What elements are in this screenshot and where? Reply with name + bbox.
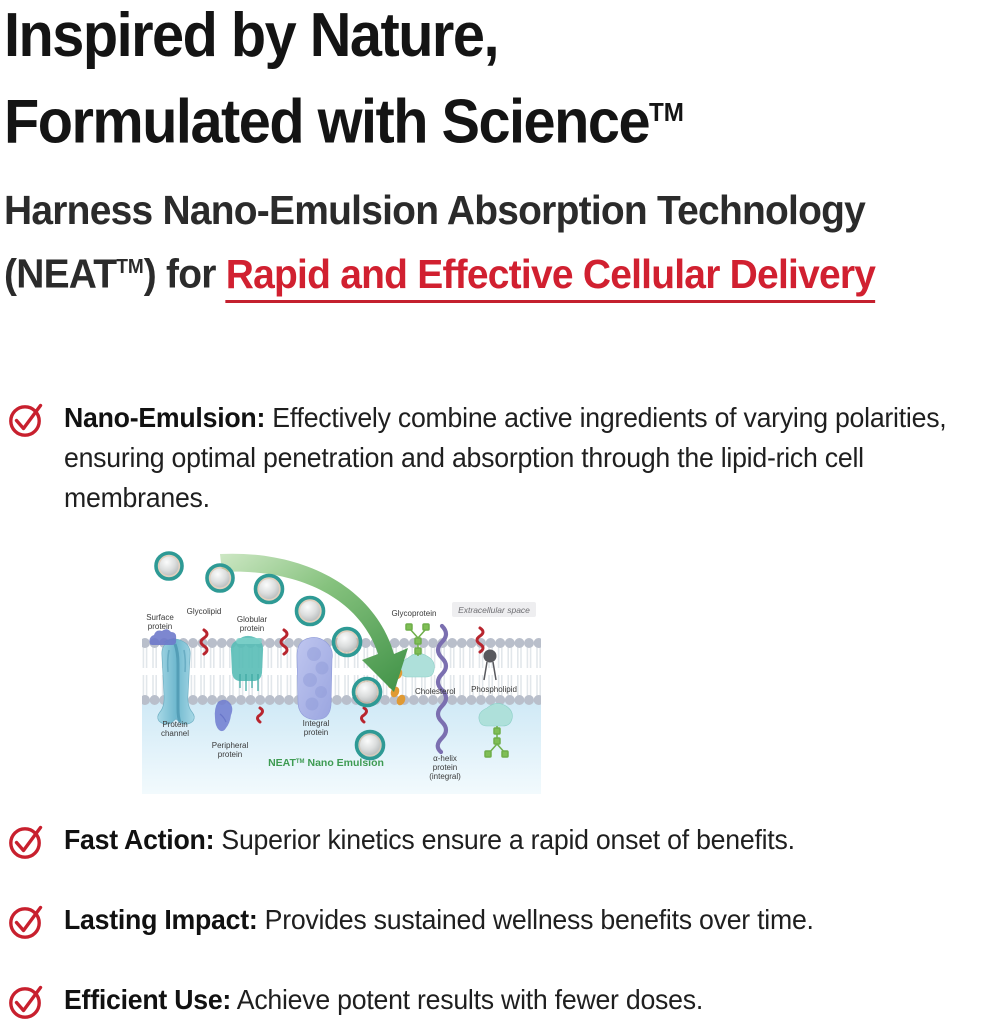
headline-line-2: Formulated with Science	[4, 88, 649, 157]
label-alpha-helix-line3: (integral)	[429, 772, 461, 781]
list-item: Nano-Emulsion: Effectively combine activ…	[6, 398, 984, 518]
lipid-head	[428, 695, 438, 705]
subtitle: Harness Nano-Emulsion Absorption Technol…	[4, 182, 930, 303]
lipid-head	[332, 695, 342, 705]
lipid-head	[534, 638, 541, 648]
lipid-head	[370, 695, 380, 705]
lipid-head	[505, 695, 515, 705]
lipid-head	[476, 695, 486, 705]
lipid-head	[457, 695, 467, 705]
nano-emulsion-particle	[155, 552, 183, 580]
label-glycolipid: Glycolipid	[187, 607, 222, 616]
list-item-label: Lasting Impact:	[64, 904, 257, 935]
check-circle-icon	[6, 822, 46, 862]
list-item-text: Lasting Impact: Provides sustained welln…	[64, 900, 814, 940]
lipid-head	[351, 638, 361, 648]
label-phospholipid: Phospholipid	[471, 685, 517, 694]
lipid-head	[284, 695, 294, 705]
phospholipid-highlight-shape	[484, 650, 497, 681]
lipid-head	[188, 695, 198, 705]
list-item-text: Efficient Use: Achieve potent results wi…	[64, 980, 703, 1020]
check-circle-icon	[6, 400, 46, 440]
label-protein-channel-line1: Protein	[162, 720, 187, 729]
lipid-head	[486, 695, 496, 705]
lipid-head	[207, 638, 217, 648]
lipid-head	[265, 695, 275, 705]
list-item-body: Provides sustained wellness benefits ove…	[257, 904, 813, 935]
lipid-head	[495, 638, 505, 648]
lipid-head	[342, 638, 352, 648]
cell-membrane-diagram: Extracellular space Surface protein Glyc…	[142, 596, 541, 794]
lipid-head	[142, 638, 150, 648]
lipid-head	[198, 695, 208, 705]
subtitle-part-2: ) for	[144, 251, 226, 297]
lipid-head	[361, 695, 371, 705]
lipid-head	[150, 695, 160, 705]
label-integral-protein-line2: protein	[304, 728, 328, 737]
lipid-head	[351, 695, 361, 705]
headline-line-1: Inspired by Nature,	[4, 1, 498, 70]
lipid-head	[255, 695, 265, 705]
lipid-head	[265, 638, 275, 648]
list-item-body: Achieve potent results with fewer doses.	[231, 984, 703, 1015]
integral-protein-shape	[297, 637, 332, 719]
label-glycoprotein: Glycoprotein	[392, 609, 437, 618]
label-protein-channel-line2: channel	[161, 729, 189, 738]
cell-membrane-diagram-svg: Extracellular space Surface protein Glyc…	[142, 596, 541, 794]
lipid-head	[486, 638, 496, 648]
label-alpha-helix-line2: protein	[433, 763, 457, 772]
label-globular-protein-line2: protein	[240, 624, 264, 633]
label-integral-protein-line1: Integral	[303, 719, 330, 728]
lipid-head	[217, 638, 227, 648]
label-neat-nano-emulsion: NEATTM Nano Emulsion	[268, 757, 384, 769]
check-circle-icon	[6, 982, 46, 1022]
list-item-label: Fast Action:	[64, 824, 214, 855]
lipid-head	[390, 638, 400, 648]
page-title: Inspired by Nature, Formulated with Scie…	[4, 0, 911, 161]
lipid-head	[409, 695, 419, 705]
label-cholesterol: Cholesterol	[415, 687, 456, 696]
check-circle-icon	[6, 902, 46, 942]
list-item-body: Superior kinetics ensure a rapid onset o…	[214, 824, 795, 855]
lipid-head	[399, 638, 409, 648]
lipid-head	[466, 638, 476, 648]
lipid-head	[188, 638, 198, 648]
lipid-head	[380, 695, 390, 705]
lipid-head	[466, 695, 476, 705]
label-surface-protein-line2: protein	[148, 622, 172, 631]
lipid-head	[332, 638, 342, 648]
lipid-head	[447, 638, 457, 648]
lipid-head	[457, 638, 467, 648]
label-peripheral-protein-line2: protein	[218, 750, 242, 759]
label-alpha-helix-line1: α-helix	[433, 754, 457, 763]
surface-protein-shape	[150, 629, 177, 645]
lipid-head	[361, 638, 371, 648]
protein-channel-shape	[158, 639, 195, 724]
lipid-head	[370, 638, 380, 648]
label-surface-protein-line1: Surface	[146, 613, 174, 622]
lipid-head	[514, 638, 524, 648]
list-item-label: Nano-Emulsion:	[64, 402, 265, 433]
subtitle-highlight: Rapid and Effective Cellular Delivery	[226, 251, 875, 303]
list-item: Lasting Impact: Provides sustained welln…	[6, 900, 984, 942]
subtitle-trademark-symbol: TM	[116, 256, 143, 278]
lipid-head	[236, 695, 246, 705]
trademark-symbol: TM	[649, 97, 684, 127]
label-globular-protein-line1: Globular	[237, 615, 268, 624]
nano-emulsion-particle	[206, 564, 234, 592]
lipid-head	[380, 638, 390, 648]
list-item-text: Nano-Emulsion: Effectively combine activ…	[64, 398, 956, 518]
list-item: Fast Action: Superior kinetics ensure a …	[6, 820, 984, 862]
lipid-head	[418, 695, 428, 705]
list-item: Efficient Use: Achieve potent results wi…	[6, 980, 984, 1022]
extracellular-space-badge: Extracellular space	[452, 602, 536, 617]
globular-protein-shape	[231, 636, 263, 691]
label-peripheral-protein-line1: Peripheral	[212, 741, 249, 750]
lipid-head	[524, 695, 534, 705]
lipid-head	[207, 695, 217, 705]
lipid-head	[447, 695, 457, 705]
extracellular-space-label: Extracellular space	[458, 605, 530, 615]
lipid-head	[246, 695, 256, 705]
list-item-text: Fast Action: Superior kinetics ensure a …	[64, 820, 795, 860]
lipid-head	[514, 695, 524, 705]
lipid-head	[524, 638, 534, 648]
lipid-head	[274, 695, 284, 705]
lipid-head	[342, 695, 352, 705]
lipid-head	[505, 638, 515, 648]
list-item-label: Efficient Use:	[64, 984, 231, 1015]
